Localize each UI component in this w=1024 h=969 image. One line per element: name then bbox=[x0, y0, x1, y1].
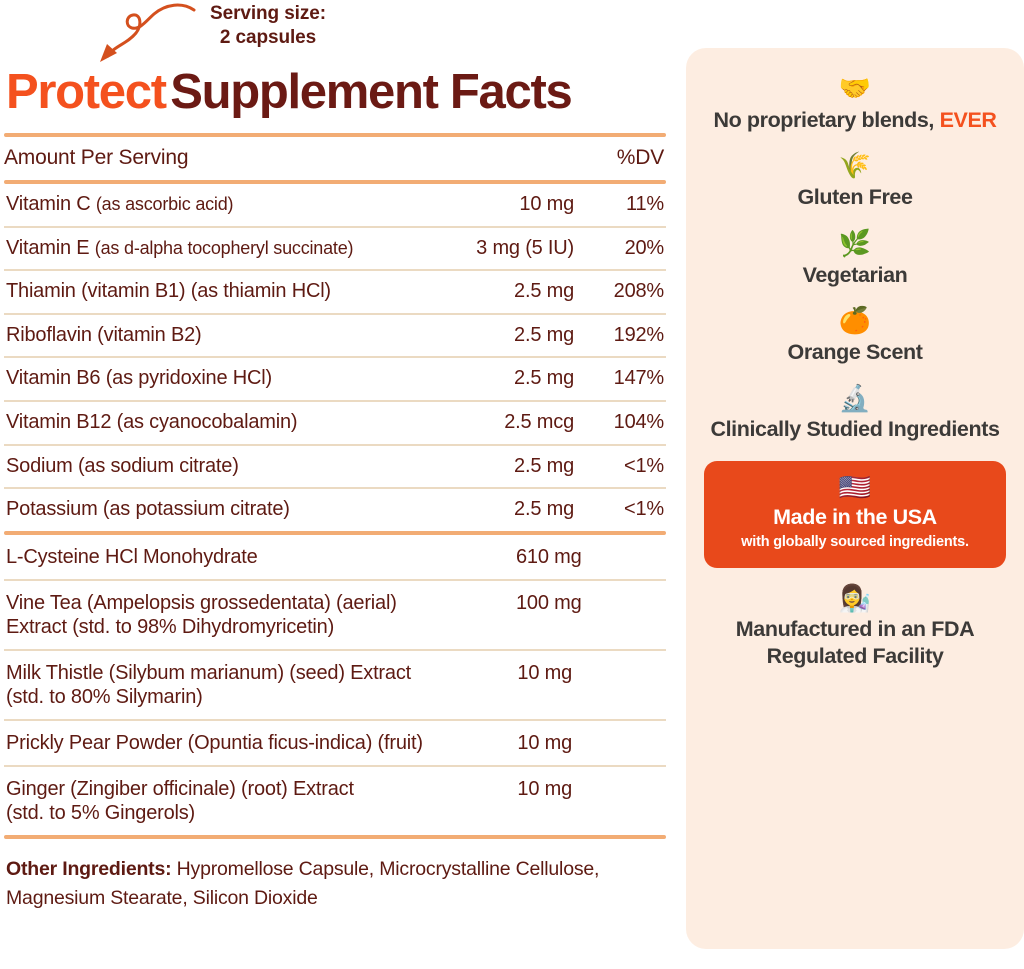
table-row: Prickly Pear Powder (Opuntia ficus-indic… bbox=[4, 721, 666, 765]
nutrient-amount: 2.5 mg bbox=[426, 455, 574, 479]
title-product: Protect bbox=[6, 65, 166, 119]
serving-size-line1: Serving size: bbox=[168, 2, 368, 26]
nutrient-name: Vitamin E bbox=[6, 237, 95, 259]
woman-scientist-icon: 👩‍🔬 bbox=[704, 584, 1006, 613]
benefits-panel: 🤝 No proprietary blends, EVER 🌾 Gluten F… bbox=[686, 48, 1024, 949]
nutrient-name: Vitamin B6 (as pyridoxine HCl) bbox=[6, 367, 272, 389]
badge-label: Made in the USA bbox=[714, 504, 996, 531]
nutrient-name: Sodium (as sodium citrate) bbox=[6, 455, 239, 477]
nutrient-amount: 3 mg (5 IU) bbox=[426, 237, 574, 261]
ingredient-amount: 10 mg bbox=[516, 777, 666, 801]
badge-made-in-usa: 🇺🇸 Made in the USA with globally sourced… bbox=[704, 461, 1006, 567]
ingredient-name-line2: (std. to 80% Silymarin) bbox=[6, 685, 508, 709]
ingredient-amount: 10 mg bbox=[516, 661, 666, 685]
nutrient-name: Riboflavin (vitamin B2) bbox=[6, 324, 201, 346]
ingredient-name-line1: Prickly Pear Powder (Opuntia ficus-indic… bbox=[6, 732, 423, 754]
nutrient-amount: 2.5 mg bbox=[426, 280, 574, 304]
table-row: Vitamin B12 (as cyanocobalamin) 2.5 mcg … bbox=[4, 402, 666, 444]
badge-clinically-studied: 🔬 Clinically Studied Ingredients bbox=[704, 384, 1006, 443]
herb-icon: 🌿 bbox=[704, 229, 1006, 258]
nutrient-name: Vitamin B12 (as cyanocobalamin) bbox=[6, 411, 297, 433]
ingredient-name-line1: Vine Tea (Ampelopsis grossedentata) (aer… bbox=[6, 592, 397, 614]
nutrient-detail: (as ascorbic acid) bbox=[96, 194, 233, 214]
badge-orange-scent: 🍊 Orange Scent bbox=[704, 306, 1006, 365]
table-header-row: Amount Per Serving %DV bbox=[4, 137, 666, 180]
table-row: Sodium (as sodium citrate) 2.5 mg <1% bbox=[4, 446, 666, 488]
supplement-facts-panel: Serving size: 2 capsules Protect Supplem… bbox=[0, 0, 670, 969]
header-percent-dv: %DV bbox=[570, 146, 666, 170]
other-ingredients-label: Other Ingredients: bbox=[6, 858, 171, 880]
table-row: Riboflavin (vitamin B2) 2.5 mg 192% bbox=[4, 315, 666, 357]
ingredient-amount: 610 mg bbox=[516, 545, 666, 569]
ingredient-name-line2: Extract (std. to 98% Dihydromyricetin) bbox=[6, 615, 508, 639]
nutrient-dv: 192% bbox=[574, 324, 666, 348]
nutrient-dv: 104% bbox=[574, 411, 666, 435]
badge-label: Manufactured in an FDA Regulated Facilit… bbox=[704, 616, 1006, 670]
badge-label: No proprietary blends, EVER bbox=[704, 107, 1006, 134]
badge-label-text: No proprietary blends, bbox=[713, 108, 939, 132]
supplement-facts-page: Serving size: 2 capsules Protect Supplem… bbox=[0, 0, 1024, 969]
ingredient-name-line1: L-Cysteine HCl Monohydrate bbox=[6, 546, 258, 568]
serving-size-line2: 2 capsules bbox=[168, 26, 368, 50]
table-row: Vine Tea (Ampelopsis grossedentata) (aer… bbox=[4, 581, 666, 649]
badge-sublabel: with globally sourced ingredients. bbox=[714, 533, 996, 552]
badge-label-accent: EVER bbox=[940, 108, 997, 132]
badge-vegetarian: 🌿 Vegetarian bbox=[704, 229, 1006, 288]
nutrient-amount: 2.5 mcg bbox=[426, 411, 574, 435]
table-row: Milk Thistle (Silybum marianum) (seed) E… bbox=[4, 651, 666, 719]
serving-size-callout: Serving size: 2 capsules bbox=[168, 2, 368, 51]
microscope-icon: 🔬 bbox=[704, 384, 1006, 413]
badge-label: Orange Scent bbox=[704, 339, 1006, 366]
table-row: Vitamin C (as ascorbic acid) 10 mg 11% bbox=[4, 184, 666, 226]
table-row: Ginger (Zingiber officinale) (root) Extr… bbox=[4, 767, 666, 835]
facts-table: Amount Per Serving %DV Vitamin C (as asc… bbox=[4, 133, 666, 913]
ingredient-amount: 100 mg bbox=[516, 591, 666, 615]
badge-label: Clinically Studied Ingredients bbox=[704, 416, 1006, 443]
table-row: Vitamin B6 (as pyridoxine HCl) 2.5 mg 14… bbox=[4, 358, 666, 400]
nutrient-amount: 2.5 mg bbox=[426, 498, 574, 522]
nutrient-name: Vitamin C bbox=[6, 193, 96, 215]
title-rest: Supplement Facts bbox=[170, 65, 571, 119]
table-row: Vitamin E (as d-alpha tocopheryl succina… bbox=[4, 228, 666, 270]
nutrient-dv: 147% bbox=[574, 367, 666, 391]
nutrient-detail: (as d-alpha tocopheryl succinate) bbox=[95, 238, 354, 258]
nutrient-dv: 208% bbox=[574, 280, 666, 304]
table-row: Thiamin (vitamin B1) (as thiamin HCl) 2.… bbox=[4, 271, 666, 313]
nutrient-dv: 11% bbox=[574, 193, 666, 217]
table-row: Potassium (as potassium citrate) 2.5 mg … bbox=[4, 489, 666, 531]
us-flag-icon: 🇺🇸 bbox=[714, 473, 996, 502]
nutrient-name: Thiamin (vitamin B1) (as thiamin HCl) bbox=[6, 280, 331, 302]
nutrient-amount: 2.5 mg bbox=[426, 367, 574, 391]
tangerine-icon: 🍊 bbox=[704, 306, 1006, 335]
nutrient-dv: <1% bbox=[574, 498, 666, 522]
badge-gluten-free: 🌾 Gluten Free bbox=[704, 151, 1006, 210]
badge-label: Vegetarian bbox=[704, 262, 1006, 289]
nutrient-amount: 10 mg bbox=[426, 193, 574, 217]
header-amount-per-serving: Amount Per Serving bbox=[4, 146, 570, 170]
ingredient-amount: 10 mg bbox=[516, 731, 666, 755]
badge-fda-regulated-facility: 👩‍🔬 Manufactured in an FDA Regulated Fac… bbox=[704, 584, 1006, 670]
other-ingredients: Other Ingredients: Hypromellose Capsule,… bbox=[4, 839, 666, 914]
page-title: Protect Supplement Facts bbox=[6, 64, 666, 120]
nutrient-amount: 2.5 mg bbox=[426, 324, 574, 348]
nutrient-dv: 20% bbox=[574, 237, 666, 261]
nutrient-dv: <1% bbox=[574, 455, 666, 479]
badge-label: Gluten Free bbox=[704, 184, 1006, 211]
ingredient-name-line2: (std. to 5% Gingerols) bbox=[6, 801, 508, 825]
nutrient-name: Potassium (as potassium citrate) bbox=[6, 498, 290, 520]
ingredient-name-line1: Ginger (Zingiber officinale) (root) Extr… bbox=[6, 778, 354, 800]
badge-no-proprietary-blends: 🤝 No proprietary blends, EVER bbox=[704, 74, 1006, 133]
handshake-icon: 🤝 bbox=[704, 74, 1006, 103]
sheaf-of-rice-icon: 🌾 bbox=[704, 151, 1006, 180]
table-row: L-Cysteine HCl Monohydrate 610 mg bbox=[4, 535, 666, 579]
ingredient-name-line1: Milk Thistle (Silybum marianum) (seed) E… bbox=[6, 662, 411, 684]
